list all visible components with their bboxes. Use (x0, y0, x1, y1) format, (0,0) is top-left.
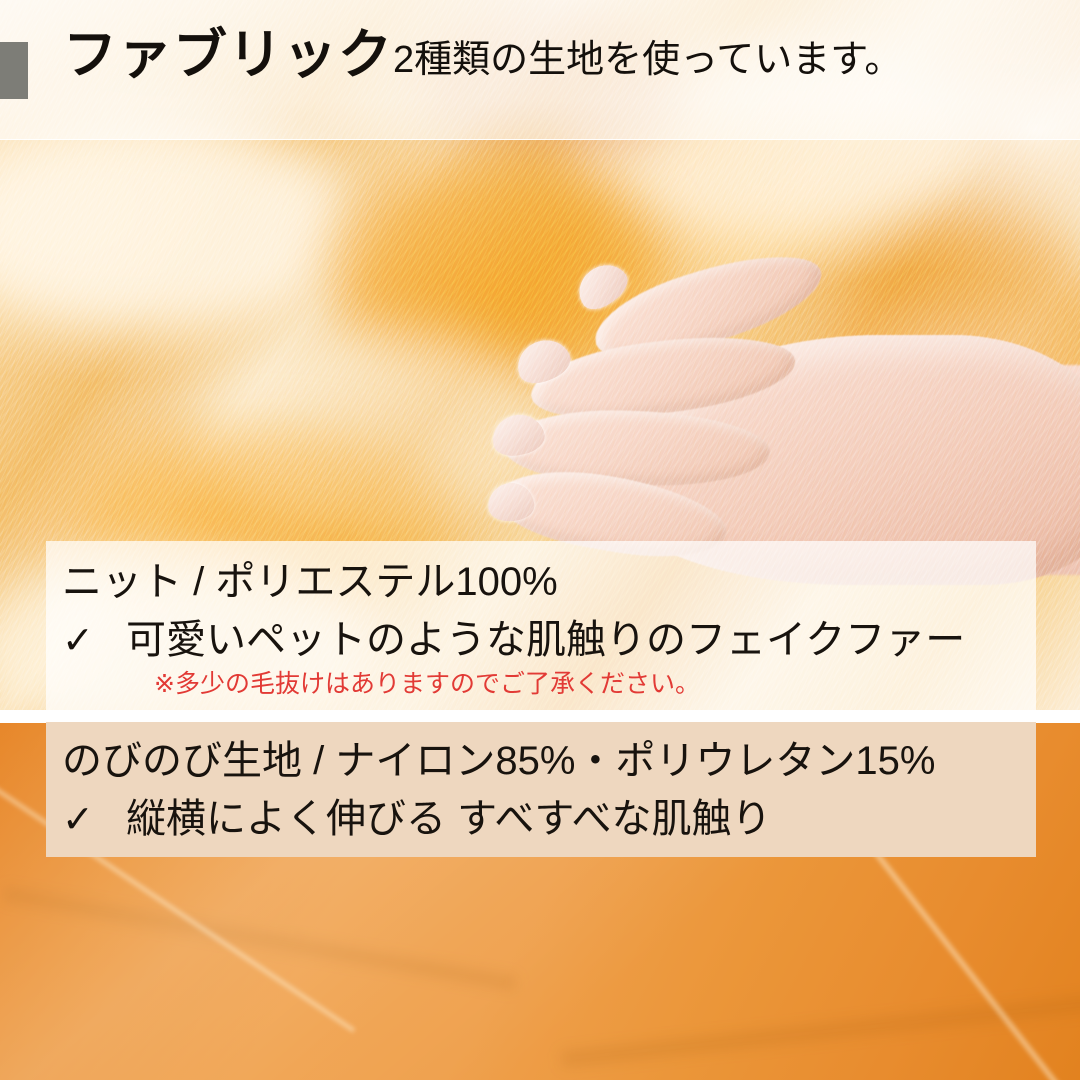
fabric-panel-stretch: のびのび生地 / ナイロン85%・ポリウレタン15% ✓ 縦横によく伸びる すべ… (46, 722, 1036, 857)
header-band: ファブリック 2種類の生地を使っています。 (0, 0, 1080, 140)
stretch-panel-title: のびのび生地 / ナイロン85%・ポリウレタン15% (62, 738, 1036, 784)
check-icon: ✓ (62, 621, 126, 659)
knit-feature-text: 可愛いペットのような肌触りのフェイクファー (126, 617, 965, 663)
knit-feature-row: ✓ 可愛いペットのような肌触りのフェイクファー (62, 617, 1036, 663)
product-fabric-infographic: ファブリック 2種類の生地を使っています。 ニット / ポリエステル100% ✓… (0, 0, 1080, 1080)
page-subtitle: 2種類の生地を使っています。 (393, 41, 902, 79)
stretch-feature-text: 縦横によく伸びる すべすべな肌触り (126, 796, 772, 842)
check-icon: ✓ (62, 800, 126, 838)
header-marker-icon (0, 42, 28, 99)
knit-panel-note: ※多少の毛抜けはありますのでご了承ください。 (154, 669, 1036, 699)
page-title: ファブリック (63, 28, 393, 82)
knit-panel-title: ニット / ポリエステル100% (62, 559, 1036, 605)
stretch-feature-row: ✓ 縦横によく伸びる すべすべな肌触り (62, 796, 1036, 842)
header-divider (0, 139, 1080, 140)
fabric-panel-knit: ニット / ポリエステル100% ✓ 可愛いペットのような肌触りのフェイクファー… (46, 541, 1036, 710)
